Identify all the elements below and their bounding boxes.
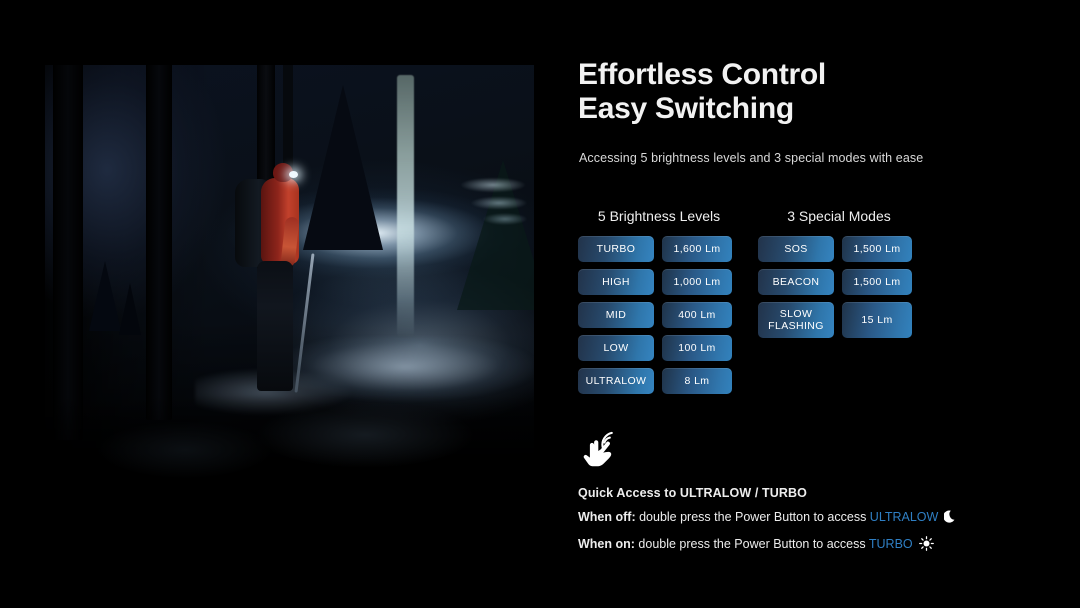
when-on-accent: TURBO	[869, 537, 913, 551]
table-row: ULTRALOW 8 Lm	[578, 368, 740, 394]
output-pill-mid[interactable]: 400 Lm	[662, 302, 732, 328]
brightness-levels-title: 5 Brightness Levels	[578, 208, 740, 224]
when-off-text: double press the Power Button to access	[636, 510, 870, 524]
table-row: SOS 1,500 Lm	[758, 236, 920, 262]
special-modes-title: 3 Special Modes	[758, 208, 920, 224]
conifer-silhouette	[89, 261, 121, 331]
output-pill-high[interactable]: 1,000 Lm	[662, 269, 732, 295]
mode-pill-sos[interactable]: SOS	[758, 236, 834, 262]
trekking-pole	[294, 253, 314, 392]
mode-pill-mid[interactable]: MID	[578, 302, 654, 328]
headline-line-2: Easy Switching	[578, 92, 826, 126]
special-modes-table: 3 Special Modes SOS 1,500 Lm BEACON 1,50…	[758, 208, 920, 345]
when-off-accent: ULTRALOW	[870, 510, 939, 524]
mode-pill-turbo[interactable]: TURBO	[578, 236, 654, 262]
table-row: TURBO 1,600 Lm	[578, 236, 740, 262]
quick-access-line-off: When off: double press the Power Button …	[578, 509, 1058, 527]
illuminated-tree-trunk	[397, 75, 414, 337]
mode-pill-high[interactable]: HIGH	[578, 269, 654, 295]
output-pill-turbo[interactable]: 1,600 Lm	[662, 236, 732, 262]
output-pill-ultralow[interactable]: 8 Lm	[662, 368, 732, 394]
slow-flashing-line-1: SLOW	[780, 308, 813, 320]
output-pill-sos[interactable]: 1,500 Lm	[842, 236, 912, 262]
tap-hand-icon	[578, 428, 624, 474]
quick-access-title: Quick Access to ULTRALOW / TURBO	[578, 486, 1058, 500]
foreground-rocks	[45, 395, 534, 505]
when-on-label: When on:	[578, 537, 635, 551]
slow-flashing-line-2: FLASHING	[768, 320, 824, 332]
table-row: SLOW FLASHING 15 Lm	[758, 302, 920, 338]
when-on-text: double press the Power Button to access	[635, 537, 869, 551]
mode-pill-ultralow[interactable]: ULTRALOW	[578, 368, 654, 394]
output-pill-low[interactable]: 100 Lm	[662, 335, 732, 361]
when-off-label: When off:	[578, 510, 636, 524]
tree-trunk	[53, 65, 83, 440]
headline-line-1: Effortless Control	[578, 58, 826, 92]
mode-pill-low[interactable]: LOW	[578, 335, 654, 361]
page-title: Effortless Control Easy Switching	[578, 58, 826, 126]
content-panel: Effortless Control Easy Switching Access…	[578, 0, 1058, 608]
output-pill-slow-flashing[interactable]: 15 Lm	[842, 302, 912, 338]
quick-access-line-on: When on: double press the Power Button t…	[578, 536, 1058, 554]
mode-pill-slow-flashing[interactable]: SLOW FLASHING	[758, 302, 834, 338]
mode-pill-beacon[interactable]: BEACON	[758, 269, 834, 295]
quick-access-notes: Quick Access to ULTRALOW / TURBO When of…	[578, 486, 1058, 563]
brightness-levels-table: 5 Brightness Levels TURBO 1,600 Lm HIGH …	[578, 208, 740, 401]
legs	[257, 261, 293, 391]
night-forest-scene	[45, 65, 534, 505]
subheadline: Accessing 5 brightness levels and 3 spec…	[579, 151, 923, 165]
moon-icon	[944, 509, 959, 527]
tree-trunk	[146, 65, 172, 420]
output-pill-beacon[interactable]: 1,500 Lm	[842, 269, 912, 295]
table-row: LOW 100 Lm	[578, 335, 740, 361]
conifer-silhouette	[119, 283, 141, 335]
table-row: BEACON 1,500 Lm	[758, 269, 920, 295]
hiker-figure	[231, 163, 323, 413]
sun-icon	[919, 536, 934, 554]
headlamp-light	[289, 171, 298, 178]
table-row: MID 400 Lm	[578, 302, 740, 328]
product-lifestyle-photo	[45, 65, 534, 505]
snow-covered-branches	[453, 173, 534, 235]
table-row: HIGH 1,000 Lm	[578, 269, 740, 295]
